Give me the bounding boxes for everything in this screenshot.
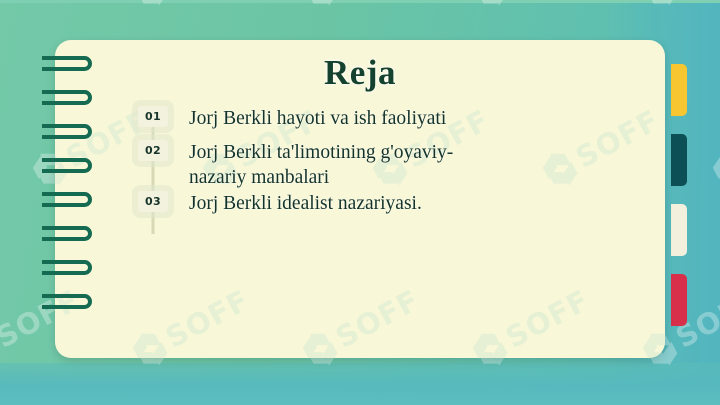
spiral-ring	[42, 260, 92, 275]
card-content: Reja 01Jorj Berkli hayoti va ish faoliya…	[55, 40, 665, 358]
note-card: SOFFSOFFSOFFSOFFSOFFSOFFSOFFSOFFSOFFSOFF…	[55, 40, 665, 358]
tab-red[interactable]	[671, 274, 687, 326]
tab-cream[interactable]	[671, 204, 687, 256]
agenda-item-text: Jorj Berkli ta'limotining g'oyaviy- naza…	[175, 140, 643, 191]
agenda-item-marker: 02	[131, 140, 175, 161]
spiral-ring	[42, 124, 92, 139]
spiral-ring	[42, 226, 92, 241]
spiral-ring	[42, 192, 92, 207]
tab-yellow[interactable]	[671, 64, 687, 116]
agenda-item-number: 03	[138, 191, 168, 212]
agenda-item: 01Jorj Berkli hayoti va ish faoliyati	[131, 106, 643, 140]
background-top-strip	[0, 0, 720, 3]
presentation-slide: SOFFSOFFSOFFSOFFSOFFSOFFSOFFSOFFSOFFSOFF…	[0, 0, 720, 405]
agenda-item-text: Jorj Berkli idealist nazariyasi.	[175, 191, 643, 217]
page-title: Reja	[55, 40, 665, 93]
spiral-ring	[42, 294, 92, 309]
spiral-binding	[42, 56, 100, 331]
agenda-item-text: Jorj Berkli hayoti va ish faoliyati	[175, 106, 643, 132]
spiral-ring	[42, 90, 92, 105]
spiral-ring	[42, 158, 92, 173]
agenda-item: 03Jorj Berkli idealist nazariyasi.	[131, 191, 643, 225]
agenda-item: 02Jorj Berkli ta'limotining g'oyaviy- na…	[131, 140, 643, 191]
agenda-item-number: 01	[138, 106, 168, 127]
tab-teal[interactable]	[671, 134, 687, 186]
agenda-item-marker: 03	[131, 191, 175, 212]
background-band-bottom	[0, 363, 720, 405]
agenda-item-marker: 01	[131, 106, 175, 127]
spiral-ring	[42, 56, 92, 71]
index-tab-strip	[671, 56, 687, 336]
agenda-item-number: 02	[138, 140, 168, 161]
agenda-list: 01Jorj Berkli hayoti va ish faoliyati02J…	[131, 104, 643, 225]
